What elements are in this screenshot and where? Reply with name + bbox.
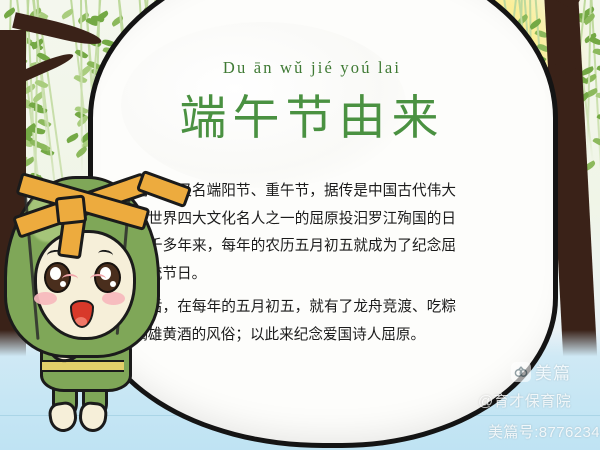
mascot-belt <box>42 360 124 372</box>
mascot-strap-knot <box>55 195 88 226</box>
mascot-blush-left <box>34 292 57 305</box>
willow-leaf <box>65 133 79 144</box>
mascot-blush-right <box>102 292 125 305</box>
meipian-brand-label: 美篇 <box>535 359 571 384</box>
title-pinyin: Du ān wǔ jié yoú lai <box>102 58 522 78</box>
page-title: 端午节由来 <box>102 88 522 148</box>
poster-canvas: Du ān wǔ jié yoú lai 端午节由来 端午节又名端阳节、重午节，… <box>0 0 600 450</box>
watermark-account-id: 美篇号:87762348 <box>488 421 600 442</box>
zongzi-mascot <box>0 168 175 420</box>
meipian-watermark-logo: 美篇 <box>511 359 571 384</box>
meipian-logo-icon <box>511 362 531 382</box>
watermark-account-handle: @育才保育院 <box>478 390 571 411</box>
mascot-cheek-line-left <box>62 274 78 284</box>
mascot-cheek-line-right <box>90 274 106 284</box>
